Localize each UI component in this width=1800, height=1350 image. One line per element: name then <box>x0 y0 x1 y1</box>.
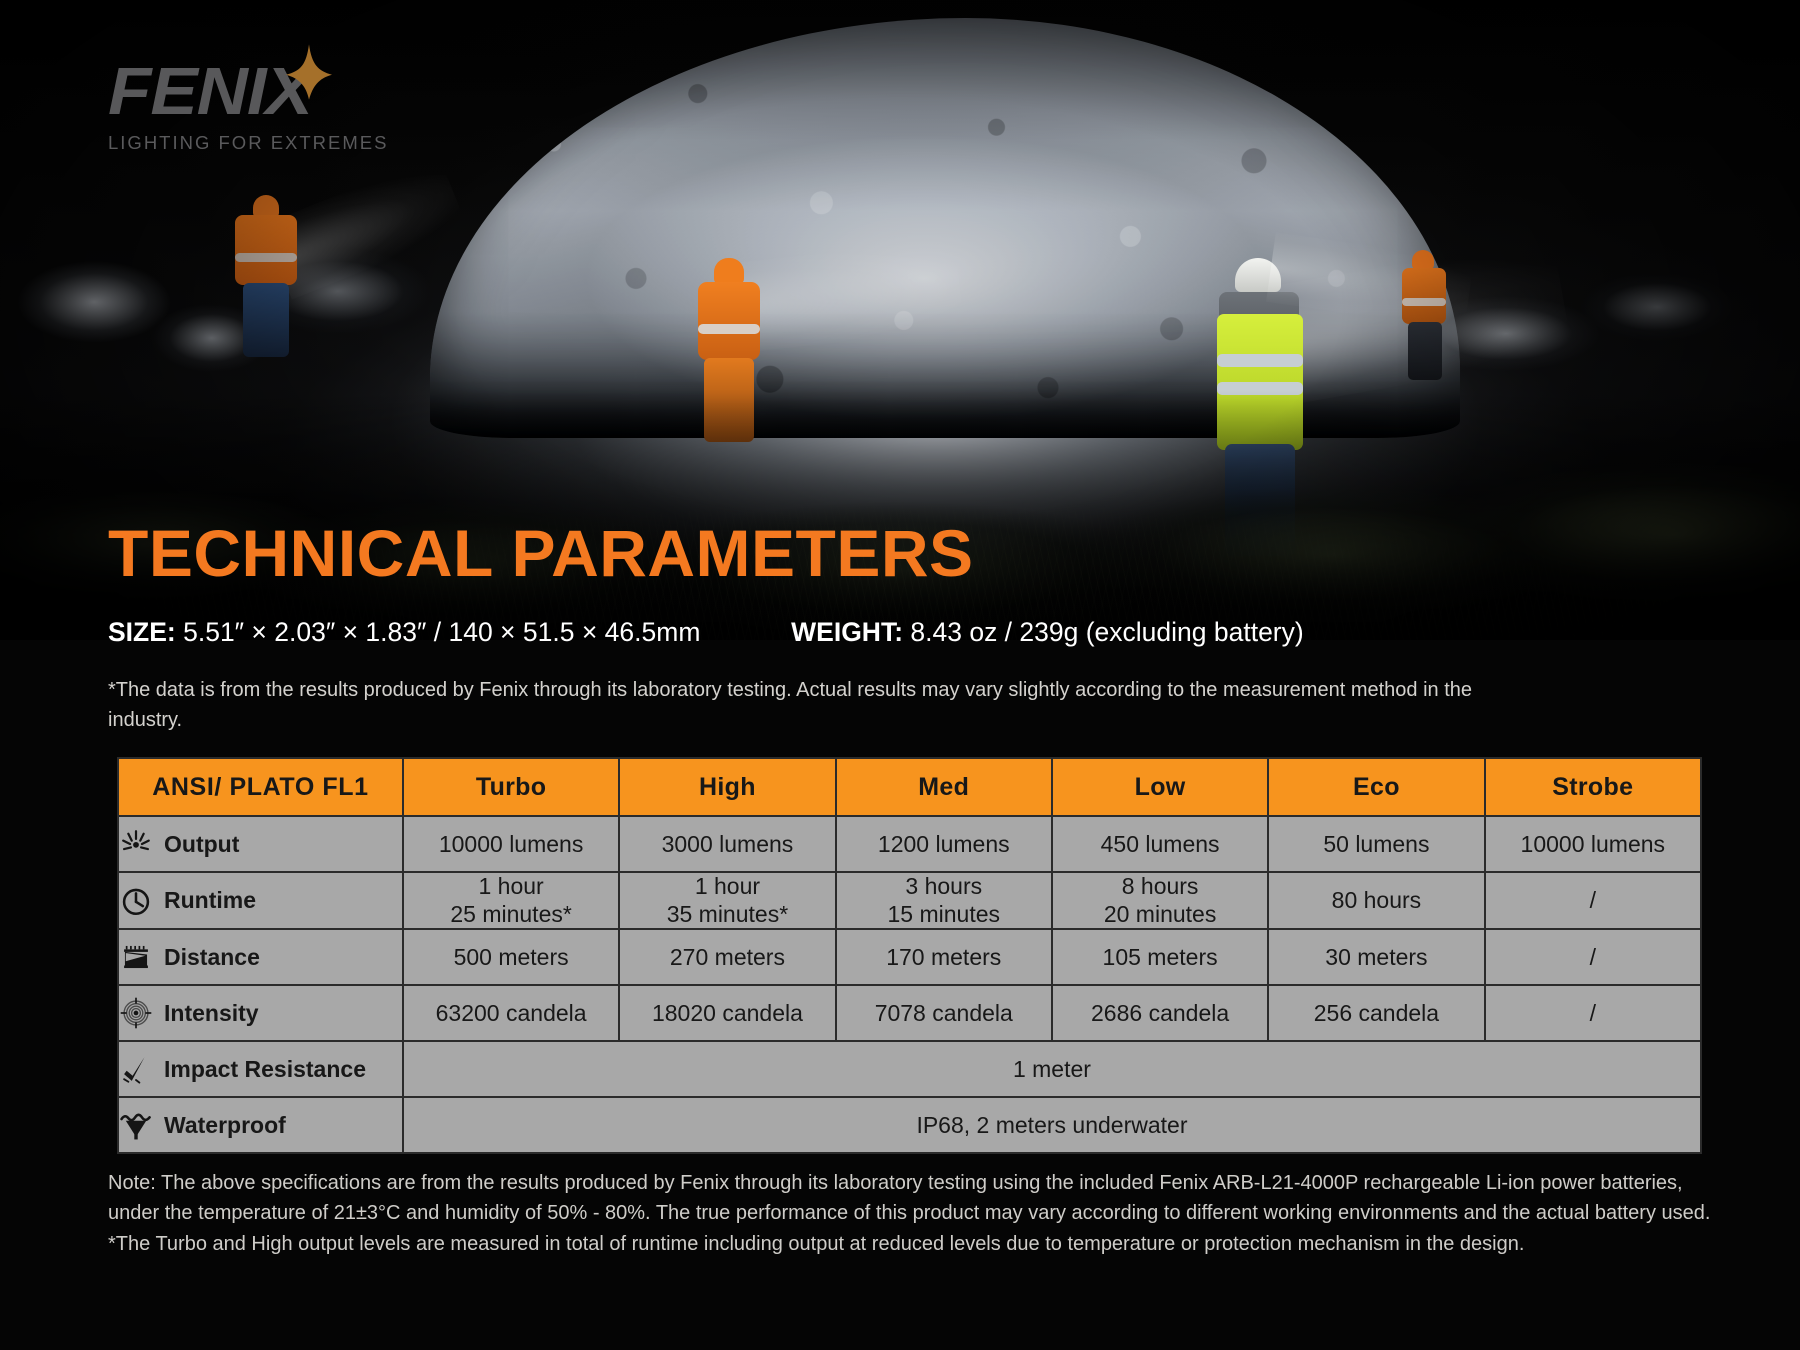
footnote-line-1: Note: The above specifications are from … <box>108 1168 1718 1229</box>
product-spec-page: FENIX LIGHTING FOR EXTREMES TECHNICAL PA… <box>0 0 1800 1350</box>
cell-waterproof-value: IP68, 2 meters underwater <box>403 1097 1701 1153</box>
size-value: 5.51″ × 2.03″ × 1.83″ / 140 × 51.5 × 46.… <box>183 617 700 647</box>
cell-distance-turbo: 500 meters <box>403 929 619 985</box>
cell-distance-low: 105 meters <box>1052 929 1268 985</box>
table-header-row: ANSI/ PLATO FL1 Turbo High Med Low Eco S… <box>118 758 1701 816</box>
beam-distance-icon <box>119 940 153 974</box>
disclaimer-text: *The data is from the results produced b… <box>108 675 1528 735</box>
cell-distance-high: 270 meters <box>619 929 835 985</box>
cell-runtime-eco: 80 hours <box>1268 872 1484 929</box>
row-label-runtime: Runtime <box>118 872 403 929</box>
fenix-logo[interactable]: FENIX LIGHTING FOR EXTREMES <box>108 58 408 168</box>
footnote-block: Note: The above specifications are from … <box>108 1168 1718 1259</box>
page-title: TECHNICAL PARAMETERS <box>108 520 974 586</box>
cell-output-turbo: 10000 lumens <box>403 816 619 872</box>
logo-tagline: LIGHTING FOR EXTREMES <box>108 132 408 154</box>
column-header-turbo: Turbo <box>403 758 619 816</box>
cell-output-high: 3000 lumens <box>619 816 835 872</box>
cell-output-strobe: 10000 lumens <box>1485 816 1701 872</box>
cell-intensity-high: 18020 candela <box>619 985 835 1041</box>
table-row-runtime: Runtime 1 hour25 minutes* 1 hour35 minut… <box>118 872 1701 929</box>
weight-label: WEIGHT: <box>791 617 903 647</box>
row-label-text: Intensity <box>164 1000 259 1027</box>
sun-burst-icon <box>119 827 153 861</box>
cell-distance-eco: 30 meters <box>1268 929 1484 985</box>
row-label-text: Waterproof <box>164 1112 286 1139</box>
cell-runtime-turbo: 1 hour25 minutes* <box>403 872 619 929</box>
cell-intensity-eco: 256 candela <box>1268 985 1484 1041</box>
spec-table-wrapper: ANSI/ PLATO FL1 Turbo High Med Low Eco S… <box>117 757 1702 1154</box>
target-intensity-icon <box>119 996 153 1030</box>
row-label-text: Output <box>164 831 239 858</box>
cell-runtime-low: 8 hours20 minutes <box>1052 872 1268 929</box>
row-label-text: Impact Resistance <box>164 1056 366 1083</box>
column-header-med: Med <box>836 758 1052 816</box>
row-label-text: Runtime <box>164 887 256 914</box>
waterproof-icon <box>119 1108 153 1142</box>
row-label-waterproof: Waterproof <box>118 1097 403 1153</box>
row-label-intensity: Intensity <box>118 985 403 1041</box>
table-row-output: Output 10000 lumens 3000 lumens 1200 lum… <box>118 816 1701 872</box>
table-row-intensity: Intensity 63200 candela 18020 candela 70… <box>118 985 1701 1041</box>
cell-output-med: 1200 lumens <box>836 816 1052 872</box>
cell-distance-strobe: / <box>1485 929 1701 985</box>
row-label-distance: Distance <box>118 929 403 985</box>
cell-runtime-med: 3 hours15 minutes <box>836 872 1052 929</box>
cell-distance-med: 170 meters <box>836 929 1052 985</box>
cell-impact-resistance-value: 1 meter <box>403 1041 1701 1097</box>
column-header-eco: Eco <box>1268 758 1484 816</box>
column-header-strobe: Strobe <box>1485 758 1701 816</box>
cell-intensity-turbo: 63200 candela <box>403 985 619 1041</box>
column-header-low: Low <box>1052 758 1268 816</box>
spec-table: ANSI/ PLATO FL1 Turbo High Med Low Eco S… <box>117 757 1702 1154</box>
weight-value: 8.43 oz / 239g (excluding battery) <box>910 617 1303 647</box>
footnote-line-2: *The Turbo and High output levels are me… <box>108 1229 1718 1259</box>
row-label-text: Distance <box>164 944 260 971</box>
table-row-impact-resistance: Impact Resistance 1 meter <box>118 1041 1701 1097</box>
size-weight-line: SIZE: 5.51″ × 2.03″ × 1.83″ / 140 × 51.5… <box>108 617 1304 648</box>
column-header-high: High <box>619 758 835 816</box>
cell-intensity-strobe: / <box>1485 985 1701 1041</box>
table-row-distance: Distance 500 meters 270 meters 170 meter… <box>118 929 1701 985</box>
cell-output-low: 450 lumens <box>1052 816 1268 872</box>
logo-wordmark: FENIX <box>108 58 426 125</box>
row-label-output: Output <box>118 816 403 872</box>
cell-runtime-strobe: / <box>1485 872 1701 929</box>
cell-intensity-low: 2686 candela <box>1052 985 1268 1041</box>
cell-runtime-high: 1 hour35 minutes* <box>619 872 835 929</box>
cell-intensity-med: 7078 candela <box>836 985 1052 1041</box>
impact-drop-icon <box>119 1052 153 1086</box>
size-label: SIZE: <box>108 617 176 647</box>
clock-icon <box>119 884 153 918</box>
cell-output-eco: 50 lumens <box>1268 816 1484 872</box>
column-header-ansi: ANSI/ PLATO FL1 <box>118 758 403 816</box>
table-row-waterproof: Waterproof IP68, 2 meters underwater <box>118 1097 1701 1153</box>
row-label-impact-resistance: Impact Resistance <box>118 1041 403 1097</box>
four-point-star-icon <box>286 44 332 100</box>
